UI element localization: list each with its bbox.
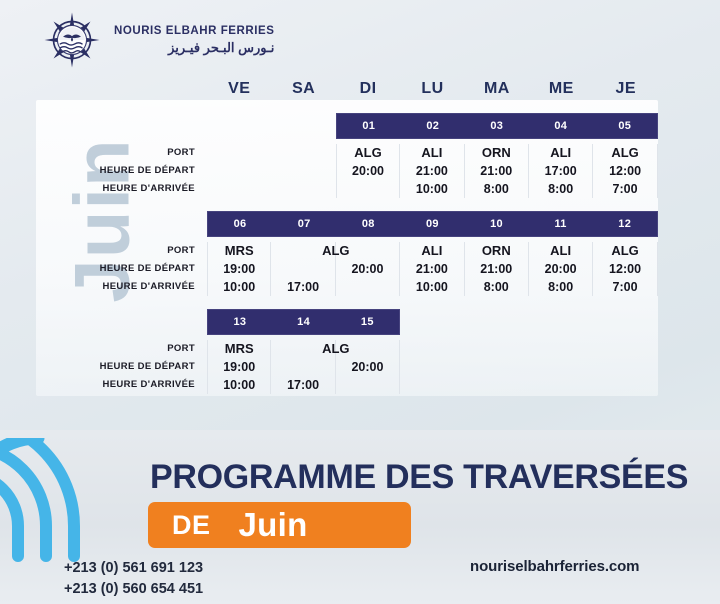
cell-port: ALI [529, 242, 592, 260]
cell-arrive: 10:00 [208, 376, 270, 394]
day-of-week-di: DI [336, 80, 400, 106]
cell-port: MRS [208, 242, 270, 260]
cell-port: ORN [465, 242, 528, 260]
week-cells: MRS19:0010:0017:0020:00ALI21:0010:00ORN2… [207, 242, 658, 296]
row-label: HEURE D'ARRIVÉE [0, 376, 195, 394]
schedule-cell: 17:00 [271, 340, 335, 394]
schedule-cell: ALG20:00 [336, 144, 400, 198]
cell-arrive: 17:00 [271, 376, 334, 394]
day-of-week-header-row: VESADILUMAMEJE [207, 80, 658, 106]
cell-depart: 20:00 [336, 260, 399, 278]
cell-depart: 19:00 [208, 260, 270, 278]
cell-arrive [336, 278, 399, 296]
schedule-cell: ALG12:007:00 [593, 242, 657, 296]
cell-arrive: 10:00 [400, 180, 463, 198]
day-number: 13 [208, 316, 272, 328]
day-number: 01 [337, 120, 401, 132]
cell-depart: 21:00 [465, 162, 528, 180]
cell-depart: 20:00 [529, 260, 592, 278]
schedule-cell: ALG12:007:00 [593, 144, 657, 198]
contact-phones: +213 (0) 561 691 123+213 (0) 560 654 451 [64, 558, 203, 600]
cell-arrive: 17:00 [271, 278, 334, 296]
schedule-cell: ORN21:008:00 [465, 144, 529, 198]
week-cells: ALG20:00ALI21:0010:00ORN21:008:00ALI17:0… [336, 144, 658, 198]
row-labels: PORTHEURE DE DÉPARTHEURE D'ARRIVÉE [0, 242, 195, 296]
day-number: 08 [336, 218, 400, 230]
cell-port: ALG [593, 242, 656, 260]
week-daynumber-bar: 131415 [207, 309, 400, 335]
bottom-banner: PROGRAMME DES TRAVERSÉES DE Juin +213 (0… [0, 430, 720, 604]
schedule-cell: ALI21:0010:00 [400, 242, 464, 296]
cell-port: ALI [529, 144, 592, 162]
cell-port: MRS [208, 340, 270, 358]
row-label: HEURE DE DÉPART [0, 162, 195, 180]
cell-arrive: 7:00 [593, 180, 656, 198]
cell-depart: 17:00 [529, 162, 592, 180]
cell-port: ALI [400, 242, 463, 260]
week-cells: MRS19:0010:0017:0020:00ALG [207, 340, 400, 394]
row-label: PORT [0, 242, 195, 260]
phone-number[interactable]: +213 (0) 561 691 123 [64, 558, 203, 579]
schedule-cell: ALI17:008:00 [529, 144, 593, 198]
week-daynumber-bar: 06070809101112 [207, 211, 658, 237]
cell-port: ALG [593, 144, 656, 162]
month-badge: DE Juin [148, 502, 411, 548]
row-label: HEURE D'ARRIVÉE [0, 180, 195, 198]
website-link[interactable]: nouriselbahrferries.com [470, 558, 639, 575]
row-label: HEURE D'ARRIVÉE [0, 278, 195, 296]
cell-arrive [336, 376, 399, 394]
cell-port [336, 242, 399, 260]
row-label: HEURE DE DÉPART [0, 358, 195, 376]
cell-depart [271, 358, 334, 376]
cell-port: ORN [465, 144, 528, 162]
day-number: 09 [400, 218, 464, 230]
week-daynumber-bar: 0102030405 [336, 113, 658, 139]
cell-arrive: 8:00 [529, 278, 592, 296]
day-of-week-je: JE [594, 80, 658, 106]
day-number: 11 [529, 218, 593, 230]
cell-depart [271, 260, 334, 278]
cell-port [271, 340, 334, 358]
schedule-cell: MRS19:0010:00 [207, 340, 271, 394]
day-of-week-ma: MA [465, 80, 529, 106]
schedule-table: VESADILUMAMEJE 0102030405PORTHEURE DE DÉ… [0, 0, 720, 430]
day-number: 02 [401, 120, 465, 132]
day-number: 12 [593, 218, 657, 230]
wave-arcs-icon [0, 438, 146, 573]
row-label: PORT [0, 144, 195, 162]
cell-depart: 20:00 [337, 162, 399, 180]
day-number: 10 [464, 218, 528, 230]
cell-depart: 12:00 [593, 260, 656, 278]
cell-arrive: 8:00 [465, 180, 528, 198]
cell-arrive: 10:00 [208, 278, 270, 296]
banner-title: PROGRAMME DES TRAVERSÉES [150, 458, 688, 497]
schedule-cell: MRS19:0010:00 [207, 242, 271, 296]
day-number: 15 [335, 316, 399, 328]
cell-arrive [337, 180, 399, 198]
schedule-cell: ALI21:0010:00 [400, 144, 464, 198]
cell-port [336, 340, 399, 358]
schedule-cell: ALI20:008:00 [529, 242, 593, 296]
day-number: 05 [593, 120, 657, 132]
cell-depart: 20:00 [336, 358, 399, 376]
badge-month-label: Juin [239, 506, 308, 544]
schedule-cell: 20:00 [336, 340, 400, 394]
day-of-week-ve: VE [207, 80, 271, 106]
row-label: PORT [0, 340, 195, 358]
day-number: 04 [529, 120, 593, 132]
cell-arrive: 8:00 [465, 278, 528, 296]
cell-depart: 12:00 [593, 162, 656, 180]
day-of-week-lu: LU [400, 80, 464, 106]
day-of-week-sa: SA [271, 80, 335, 106]
cell-arrive: 8:00 [529, 180, 592, 198]
cell-port: ALG [337, 144, 399, 162]
day-of-week-me: ME [529, 80, 593, 106]
day-number: 06 [208, 218, 272, 230]
cell-arrive: 10:00 [400, 278, 463, 296]
badge-de-label: DE [172, 510, 211, 541]
phone-number[interactable]: +213 (0) 560 654 451 [64, 579, 203, 600]
cell-arrive: 7:00 [593, 278, 656, 296]
row-label: HEURE DE DÉPART [0, 260, 195, 278]
day-number: 03 [465, 120, 529, 132]
row-labels: PORTHEURE DE DÉPARTHEURE D'ARRIVÉE [0, 340, 195, 394]
schedule-cell: 20:00 [336, 242, 400, 296]
row-labels: PORTHEURE DE DÉPARTHEURE D'ARRIVÉE [0, 144, 195, 198]
schedule-cell: 17:00 [271, 242, 335, 296]
day-number: 07 [272, 218, 336, 230]
day-number: 14 [272, 316, 336, 328]
cell-port [271, 242, 334, 260]
cell-depart: 21:00 [400, 260, 463, 278]
schedule-cell: ORN21:008:00 [465, 242, 529, 296]
cell-depart: 21:00 [465, 260, 528, 278]
cell-depart: 19:00 [208, 358, 270, 376]
cell-depart: 21:00 [400, 162, 463, 180]
cell-port: ALI [400, 144, 463, 162]
